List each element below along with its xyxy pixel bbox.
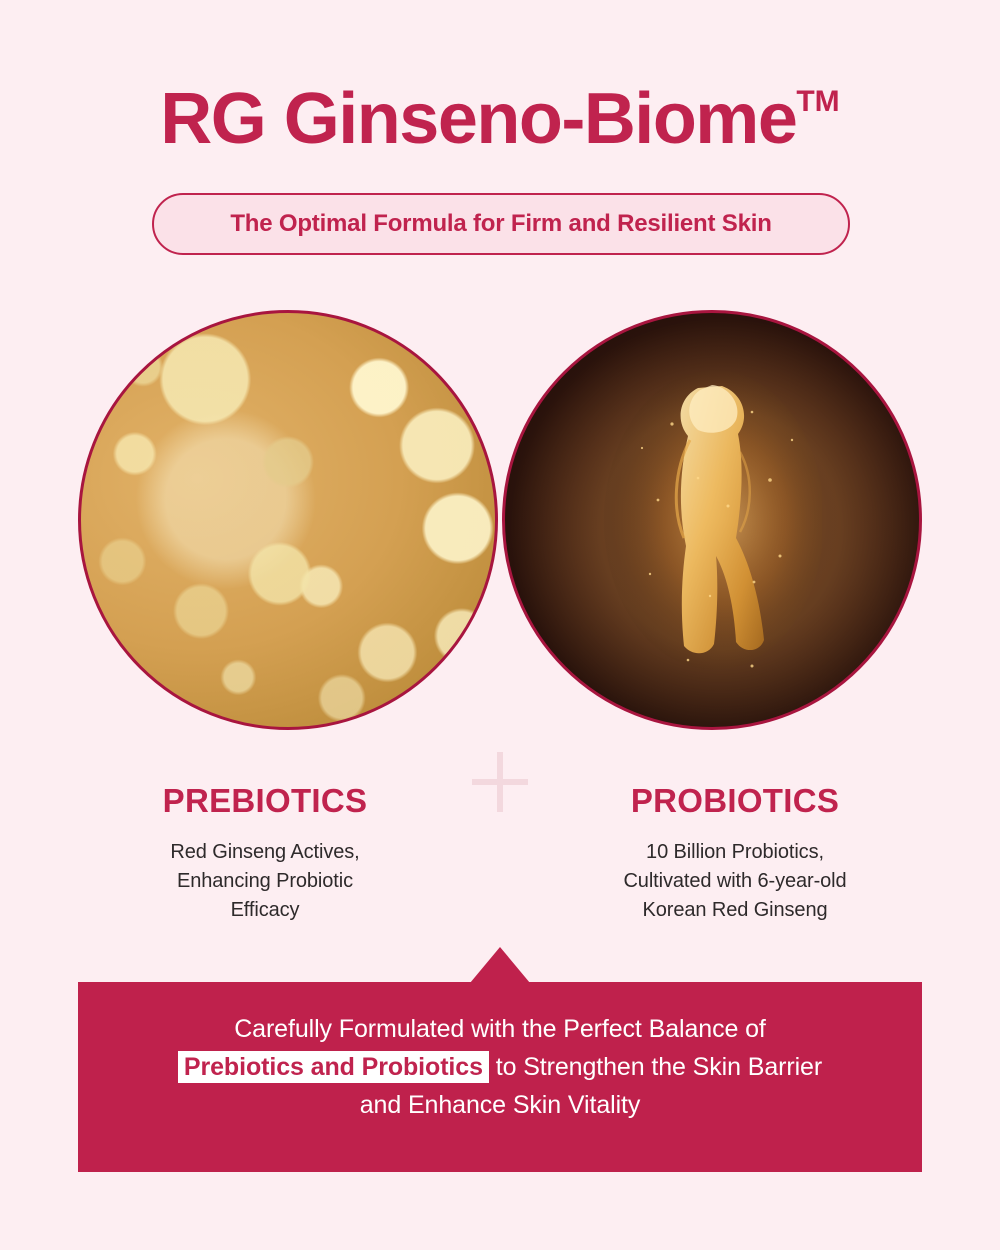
plus-icon: [472, 752, 528, 812]
column-description-prebiotics: Red Ginseng Actives, Enhancing Probiotic…: [30, 838, 500, 925]
plus-icon-vertical: [497, 752, 503, 812]
banner-line-2-rest: to Strengthen the Skin Barrier: [489, 1053, 822, 1081]
subtitle-text: The Optimal Formula for Firm and Resilie…: [230, 210, 771, 238]
description-line: Korean Red Ginseng: [500, 896, 970, 925]
column-prebiotics: PREBIOTICS Red Ginseng Actives, Enhancin…: [30, 782, 500, 925]
page-title: RG Ginseno-BiomeTM: [160, 62, 839, 159]
probiotics-image-circle: [502, 310, 922, 730]
column-probiotics: PROBIOTICS 10 Billion Probiotics, Cultiv…: [500, 782, 970, 925]
banner-line-3: and Enhance Skin Vitality: [78, 1086, 922, 1124]
summary-banner-text: Carefully Formulated with the Perfect Ba…: [78, 1010, 922, 1124]
banner-line-2: Prebiotics and Probiotics to Strengthen …: [78, 1048, 922, 1086]
trademark-symbol: TM: [796, 85, 839, 118]
description-line: Red Ginseng Actives,: [30, 838, 500, 867]
page-title-text: RG Ginseno-Biome: [160, 79, 796, 159]
description-line: Cultivated with 6-year-old: [500, 867, 970, 896]
banner-highlight: Prebiotics and Probiotics: [178, 1051, 489, 1083]
subtitle-pill: The Optimal Formula for Firm and Resilie…: [152, 193, 850, 255]
banner-line-1: Carefully Formulated with the Perfect Ba…: [78, 1010, 922, 1048]
column-description-probiotics: 10 Billion Probiotics, Cultivated with 6…: [500, 838, 970, 925]
title-block: RG Ginseno-BiomeTM: [0, 62, 1000, 159]
column-title-prebiotics: PREBIOTICS: [30, 782, 500, 820]
ingredient-images: [0, 310, 1000, 732]
description-line: Enhancing Probiotic: [30, 867, 500, 896]
banner-notch-triangle: [470, 947, 530, 983]
column-title-probiotics: PROBIOTICS: [500, 782, 970, 820]
ginseng-root-icon: [602, 360, 822, 680]
prebiotics-image-circle: [78, 310, 498, 730]
description-line: 10 Billion Probiotics,: [500, 838, 970, 867]
description-line: Efficacy: [30, 896, 500, 925]
product-ingredient-infographic: RG Ginseno-BiomeTM The Optimal Formula f…: [0, 0, 1000, 1250]
